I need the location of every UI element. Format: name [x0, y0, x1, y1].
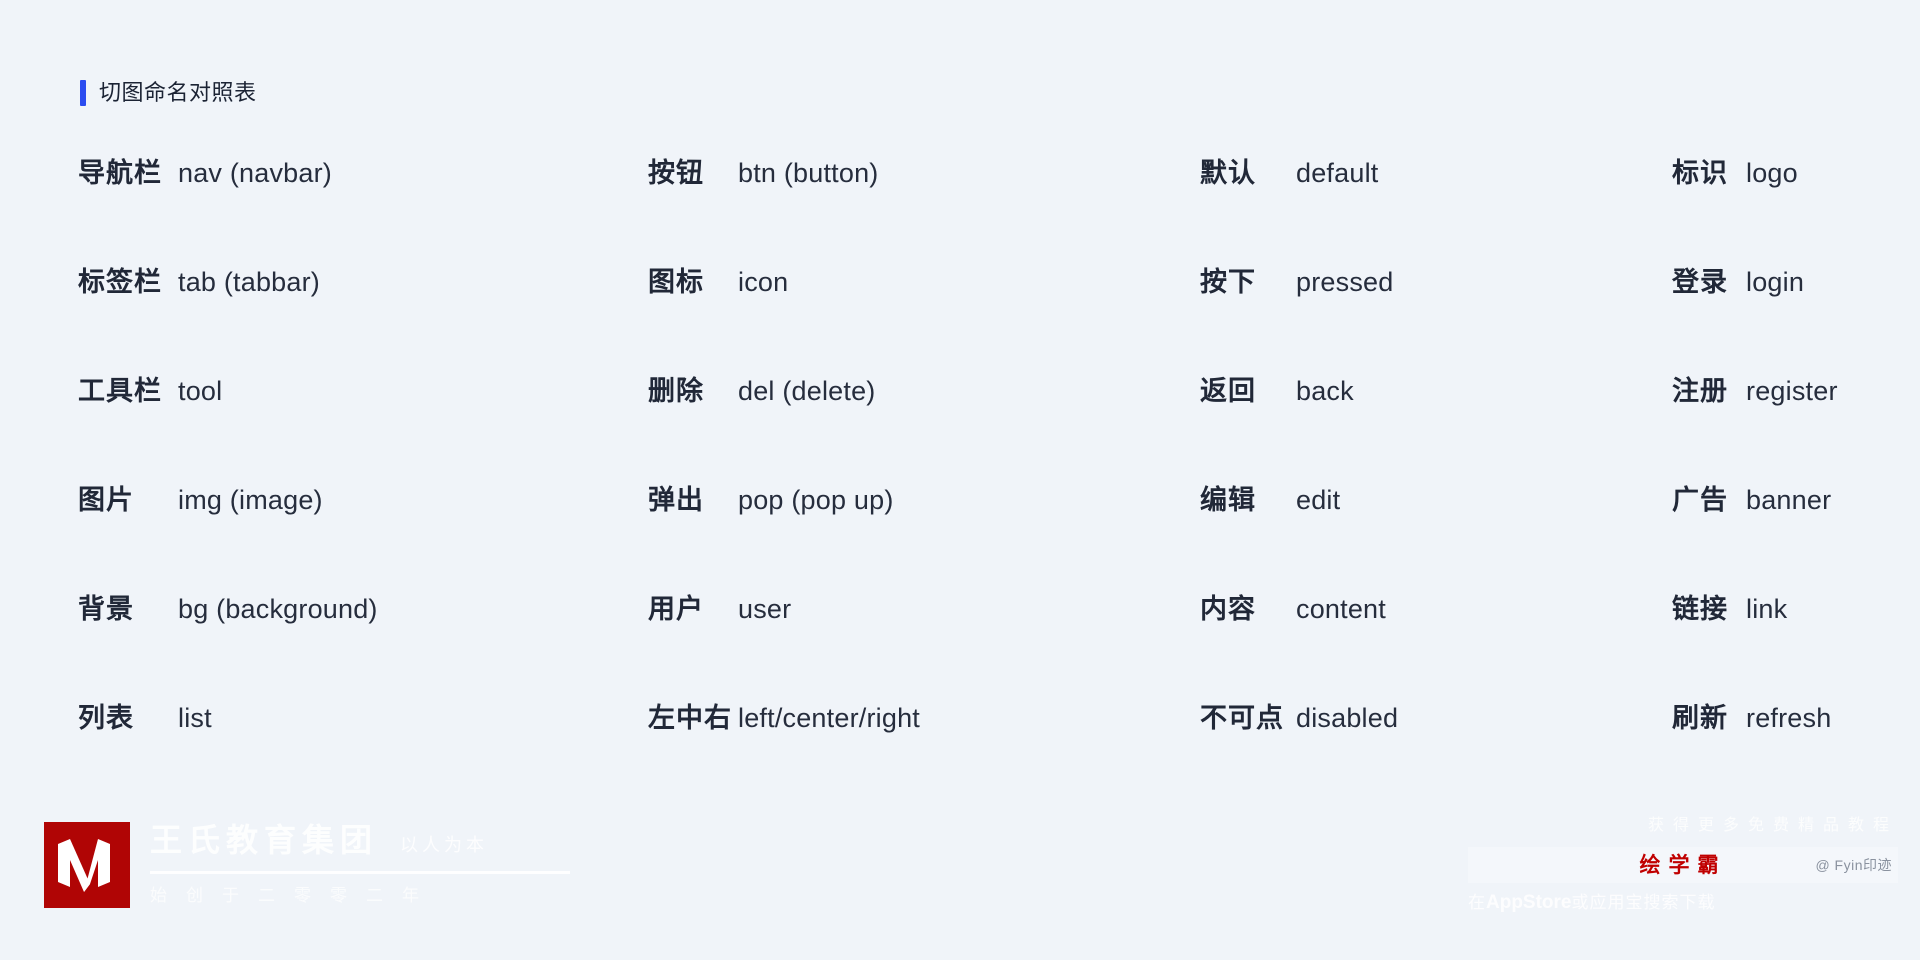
- term-zh: 弹出: [648, 487, 738, 514]
- term-zh: 链接: [1672, 596, 1746, 623]
- term-row: 图片 img (image): [78, 487, 518, 596]
- term-row: 左中右 left/center/right: [648, 705, 1088, 814]
- page-root: 切图命名对照表 导航栏 nav (navbar) 标签栏 tab (tabbar…: [0, 0, 1920, 960]
- term-en: disabled: [1296, 705, 1398, 732]
- term-en: logo: [1746, 160, 1798, 187]
- term-row: 按下 pressed: [1200, 269, 1580, 378]
- term-en: pressed: [1296, 269, 1393, 296]
- term-zh: 删除: [648, 378, 738, 405]
- term-zh: 登录: [1672, 269, 1746, 296]
- term-row: 导航栏 nav (navbar): [78, 160, 518, 269]
- download-hint-prefix: 在: [1468, 894, 1486, 911]
- term-zh: 导航栏: [78, 160, 178, 187]
- brand-name: 王氏教育集团: [150, 824, 378, 856]
- term-en: login: [1746, 269, 1804, 296]
- term-row: 弹出 pop (pop up): [648, 487, 1088, 596]
- term-en: list: [178, 705, 212, 732]
- terms-column-4: 标识 logo 登录 login 注册 register 广告 banner 链…: [1672, 160, 1920, 814]
- watermark-right: 获得更多免费精品教程 绘学霸 @ Fyin印迹 在 AppStore 或应用宝搜…: [1468, 818, 1898, 912]
- brand-text-block: 王氏教育集团 以人为本 始创于二零零二年: [150, 822, 570, 908]
- terms-column-2: 按钮 btn (button) 图标 icon 删除 del (delete) …: [648, 160, 1088, 814]
- app-name: 绘学霸: [1640, 855, 1727, 876]
- promo-headline: 获得更多免费精品教程: [1468, 818, 1898, 834]
- brand-founded: 始创于二零零二年: [150, 887, 570, 904]
- download-hint: 在 AppStore 或应用宝搜索下载: [1468, 893, 1898, 912]
- term-row: 工具栏 tool: [78, 378, 518, 487]
- download-hint-suffix: 或应用宝搜索下载: [1572, 894, 1716, 911]
- app-name-bar: 绘学霸 @ Fyin印迹: [1468, 847, 1898, 883]
- term-en: edit: [1296, 487, 1340, 514]
- term-en: link: [1746, 596, 1787, 623]
- term-row: 广告 banner: [1672, 487, 1920, 596]
- brand-title-line: 王氏教育集团 以人为本: [150, 824, 570, 856]
- term-en: user: [738, 596, 791, 623]
- term-row: 默认 default: [1200, 160, 1580, 269]
- term-zh: 按钮: [648, 160, 738, 187]
- page-title: 切图命名对照表: [80, 80, 257, 106]
- terms-column-3: 默认 default 按下 pressed 返回 back 编辑 edit 内容…: [1200, 160, 1580, 814]
- watermark-left: 王氏教育集团 以人为本 始创于二零零二年: [44, 822, 570, 908]
- term-en: nav (navbar): [178, 160, 332, 187]
- term-row: 用户 user: [648, 596, 1088, 705]
- term-en: img (image): [178, 487, 323, 514]
- term-zh: 返回: [1200, 378, 1296, 405]
- term-row: 背景 bg (background): [78, 596, 518, 705]
- term-en: banner: [1746, 487, 1831, 514]
- term-row: 内容 content: [1200, 596, 1580, 705]
- term-en: icon: [738, 269, 788, 296]
- brand-divider: [150, 871, 570, 874]
- term-zh: 编辑: [1200, 487, 1296, 514]
- term-en: register: [1746, 378, 1838, 405]
- term-zh: 注册: [1672, 378, 1746, 405]
- term-row: 删除 del (delete): [648, 378, 1088, 487]
- terms-column-1: 导航栏 nav (navbar) 标签栏 tab (tabbar) 工具栏 to…: [78, 160, 518, 814]
- term-en: btn (button): [738, 160, 879, 187]
- term-en: left/center/right: [738, 705, 920, 732]
- term-row: 返回 back: [1200, 378, 1580, 487]
- term-row: 链接 link: [1672, 596, 1920, 705]
- term-row: 列表 list: [78, 705, 518, 814]
- term-zh: 左中右: [648, 705, 738, 732]
- term-zh: 背景: [78, 596, 178, 623]
- title-accent-bar: [80, 80, 86, 106]
- term-zh: 标识: [1672, 160, 1746, 187]
- term-row: 注册 register: [1672, 378, 1920, 487]
- term-zh: 刷新: [1672, 705, 1746, 732]
- brand-logo-icon: [44, 822, 130, 908]
- term-row: 图标 icon: [648, 269, 1088, 378]
- term-zh: 标签栏: [78, 269, 178, 296]
- term-row: 标签栏 tab (tabbar): [78, 269, 518, 378]
- term-row: 编辑 edit: [1200, 487, 1580, 596]
- term-zh: 工具栏: [78, 378, 178, 405]
- term-en: refresh: [1746, 705, 1831, 732]
- term-en: del (delete): [738, 378, 875, 405]
- term-en: bg (background): [178, 596, 378, 623]
- term-en: tool: [178, 378, 222, 405]
- term-en: content: [1296, 596, 1386, 623]
- term-en: default: [1296, 160, 1378, 187]
- term-zh: 默认: [1200, 160, 1296, 187]
- term-en: pop (pop up): [738, 487, 894, 514]
- term-row: 刷新 refresh: [1672, 705, 1920, 814]
- term-zh: 图标: [648, 269, 738, 296]
- term-row: 不可点 disabled: [1200, 705, 1580, 814]
- term-zh: 用户: [648, 596, 738, 623]
- term-zh: 广告: [1672, 487, 1746, 514]
- term-row: 按钮 btn (button): [648, 160, 1088, 269]
- term-row: 登录 login: [1672, 269, 1920, 378]
- term-zh: 按下: [1200, 269, 1296, 296]
- term-en: tab (tabbar): [178, 269, 320, 296]
- term-row: 标识 logo: [1672, 160, 1920, 269]
- term-zh: 内容: [1200, 596, 1296, 623]
- term-zh: 列表: [78, 705, 178, 732]
- brand-slogan: 以人为本: [400, 836, 488, 854]
- term-zh: 不可点: [1200, 705, 1296, 732]
- author-credit: @ Fyin印迹: [1815, 858, 1892, 872]
- term-zh: 图片: [78, 487, 178, 514]
- app-store-name: AppStore: [1486, 893, 1572, 912]
- page-title-text: 切图命名对照表: [99, 82, 257, 104]
- term-en: back: [1296, 378, 1354, 405]
